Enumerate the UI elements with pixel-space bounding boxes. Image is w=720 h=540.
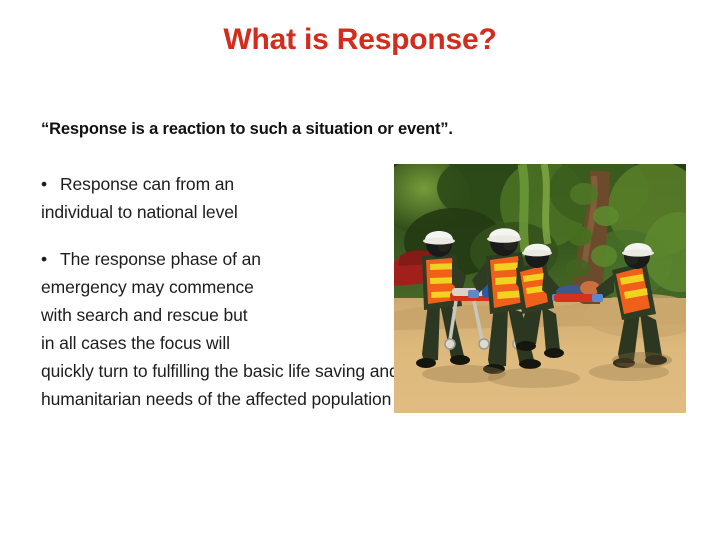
bullet-marker-icon: • — [41, 170, 60, 198]
bullet-item-2-line-3: with search and rescue but — [41, 301, 361, 329]
bullet-group-2: •The response phase of an emergency may … — [41, 245, 361, 357]
bullet-item-2-text: The response phase of an — [60, 249, 261, 269]
bullet-item-2-line-2: emergency may commence — [41, 273, 361, 301]
bullet-item-2-line-1: •The response phase of an — [41, 245, 361, 273]
quote-statement: “Response is a reaction to such a situat… — [41, 118, 681, 140]
page-title: What is Response? — [0, 22, 720, 58]
bullet-item-1-text: Response can from an — [60, 174, 234, 194]
bullet-group-1: •Response can from an individual to nati… — [41, 170, 361, 226]
rescue-team-photo — [394, 164, 686, 413]
bullet-item-2-line-4: in all cases the focus will — [41, 329, 361, 357]
bullet-item-1-line-1: •Response can from an — [41, 170, 361, 198]
presentation-slide: What is Response? “Response is a reactio… — [0, 0, 720, 540]
bullet-item-1-line-2: individual to national level — [41, 198, 361, 226]
bullet-marker-icon: • — [41, 245, 60, 273]
